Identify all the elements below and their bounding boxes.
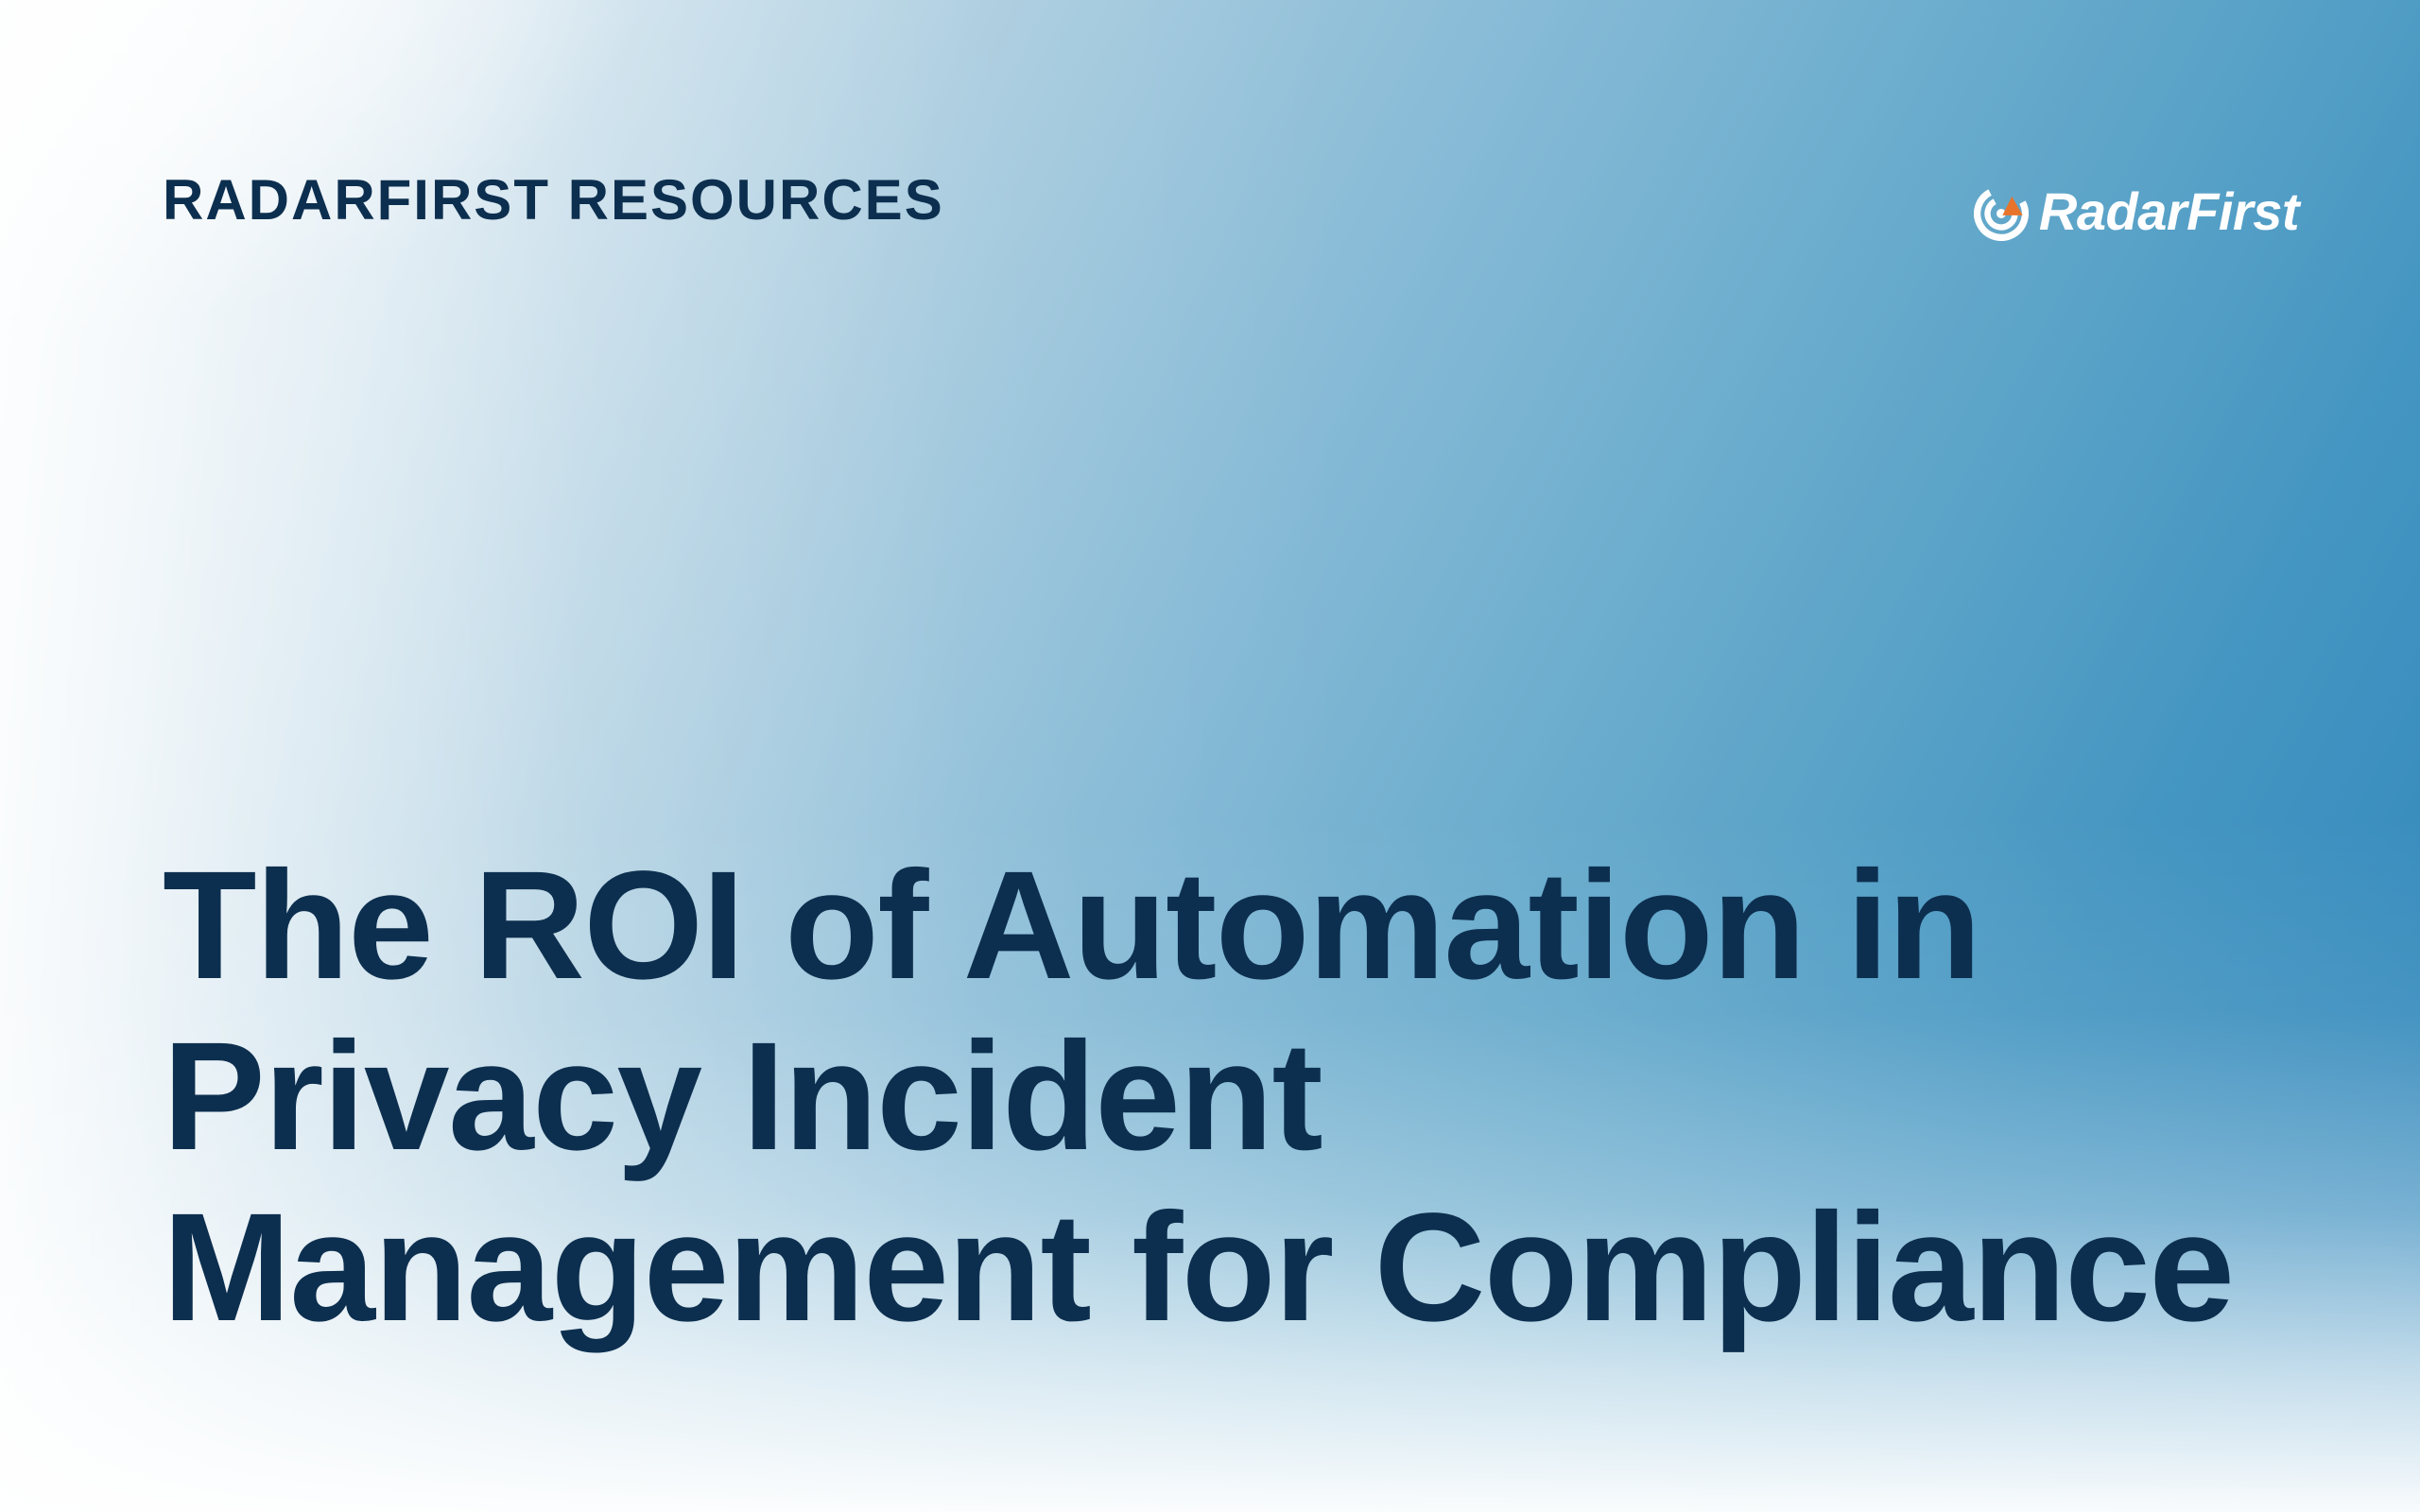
eyebrow-label: RADARFIRST RESOURCES: [163, 168, 944, 232]
radarfirst-wordmark: RadarFirst: [2039, 185, 2299, 238]
radarfirst-logo[interactable]: RadarFirst: [1974, 183, 2299, 244]
headline-line-2: Privacy Incident: [163, 1010, 2299, 1181]
page-title: The ROI of Automation in Privacy Inciden…: [163, 839, 2299, 1352]
slide-header: RADARFIRST RESOURCES RadarFirst: [0, 0, 2420, 312]
slide-canvas: RADARFIRST RESOURCES RadarFirst The ROI …: [0, 0, 2420, 1512]
headline-line-3: Management for Compliance: [163, 1181, 2299, 1352]
headline-line-1: The ROI of Automation in: [163, 839, 2299, 1010]
radar-target-icon: [1974, 186, 2029, 241]
